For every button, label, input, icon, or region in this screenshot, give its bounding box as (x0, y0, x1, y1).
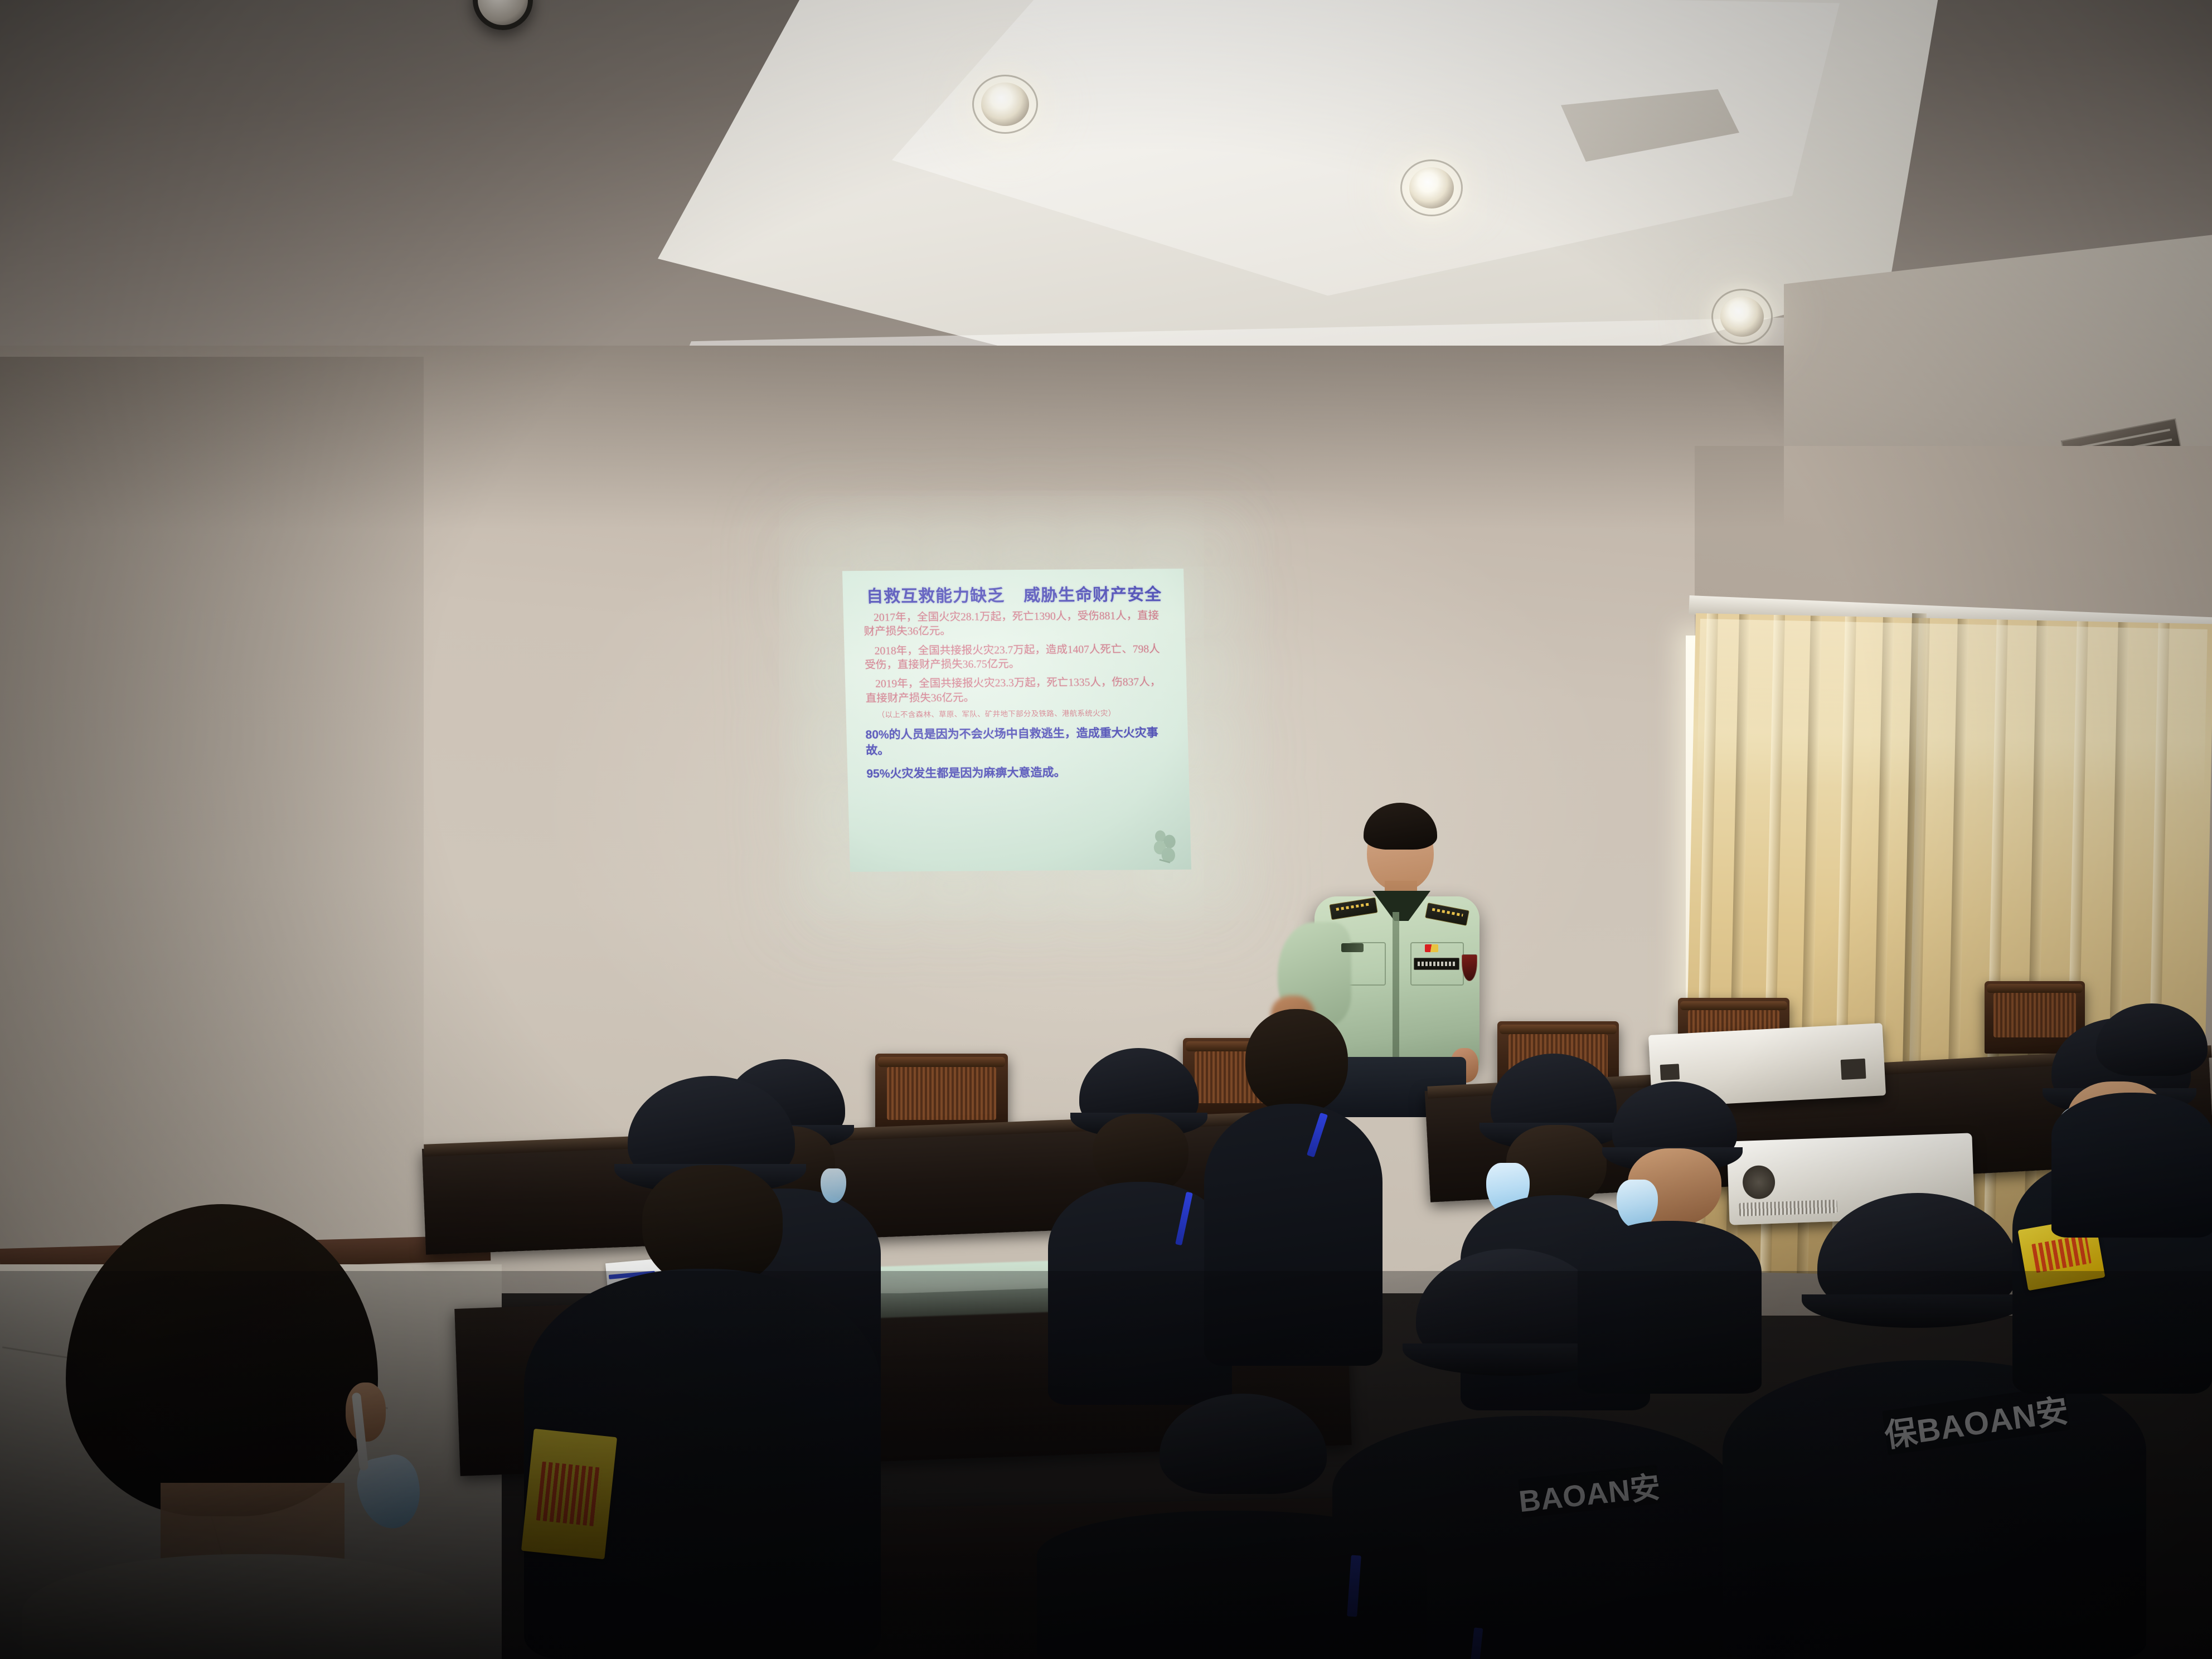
audience-member-11 (1578, 1081, 1762, 1394)
audience-8-armband (521, 1429, 617, 1559)
audience-member-8 (524, 1076, 881, 1659)
slide-highlight-95: 95%火灾发生都是因为麻痹大意造成。 (866, 764, 1173, 782)
slide-corner-logo (1149, 829, 1181, 864)
presenter-hair (1364, 803, 1437, 850)
audience-10-cap (2096, 1003, 2208, 1076)
audience-6-cap-brim (1802, 1294, 2028, 1328)
presenter-name-tag (1414, 958, 1459, 970)
audience-9-hair (66, 1204, 378, 1516)
downlight-3-ring (1711, 289, 1773, 345)
audience-12-body (1037, 1511, 1427, 1659)
wall-left-shading (0, 357, 424, 1271)
slide-highlight-80-text: 的人员是因为不会火场中自救逃生，造成重大火灾事故。 (866, 726, 1158, 756)
audience-9-shirt (22, 1554, 479, 1659)
slide-paragraph-2019: 2019年，全国共接报火灾23.3万起，死亡1335人，伤837人，直接财产损失… (865, 675, 1171, 705)
slide-highlight-80: 80%的人员是因为不会火场中自救逃生，造成重大火灾事故。 (865, 725, 1172, 758)
slide-paragraph-2018: 2018年，全国共接报火灾23.7万起，造成1407人死亡、798人受伤，直接财… (864, 642, 1170, 672)
audience-10-body (2051, 1093, 2212, 1238)
training-room-scene: 自救互救能力缺乏 威胁生命财产安全 2017年，全国火灾28.1万起，死亡139… (0, 0, 2212, 1659)
slide-paragraph-2017: 2017年，全国火灾28.1万起，死亡1390人，受伤881人，直接财产损失36… (864, 609, 1170, 639)
presenter-placket (1393, 912, 1399, 1068)
audience-12-cap (1160, 1394, 1327, 1494)
projected-slide: 自救互救能力缺乏 威胁生命财产安全 2017年，全国火灾28.1万起，死亡139… (842, 569, 1191, 872)
slide-highlight-80-pct: 80% (865, 729, 889, 741)
slide-highlight-95-text: 火灾发生都是因为麻痹大意造成。 (890, 766, 1066, 780)
audience-3-head (1245, 1009, 1348, 1114)
slide-heading-left: 自救互救能力缺乏 (866, 588, 1005, 605)
presenter-chest-emblem (1341, 943, 1364, 952)
slide-footnote: （以上不含森林、草原、军队、矿井地下部分及铁路、港航系统火灾） (877, 709, 1172, 720)
curtain-highlight (1697, 619, 2208, 797)
presenter-flag-pin (1425, 944, 1438, 952)
slide-heading-right: 威胁生命财产安全 (1023, 586, 1162, 604)
audience-9-ear (346, 1382, 386, 1442)
downlight-2-ring (1400, 159, 1463, 216)
slide-highlight-95-pct: 95% (866, 768, 890, 780)
audience-member-9 (22, 1204, 479, 1659)
downlight-1-ring (972, 75, 1038, 134)
audience-11-body (1578, 1221, 1762, 1394)
slide-heading: 自救互救能力缺乏 威胁生命财产安全 (866, 586, 1169, 605)
audience-member-10 (2029, 1003, 2212, 1238)
audience-member-12 (1037, 1394, 1427, 1659)
